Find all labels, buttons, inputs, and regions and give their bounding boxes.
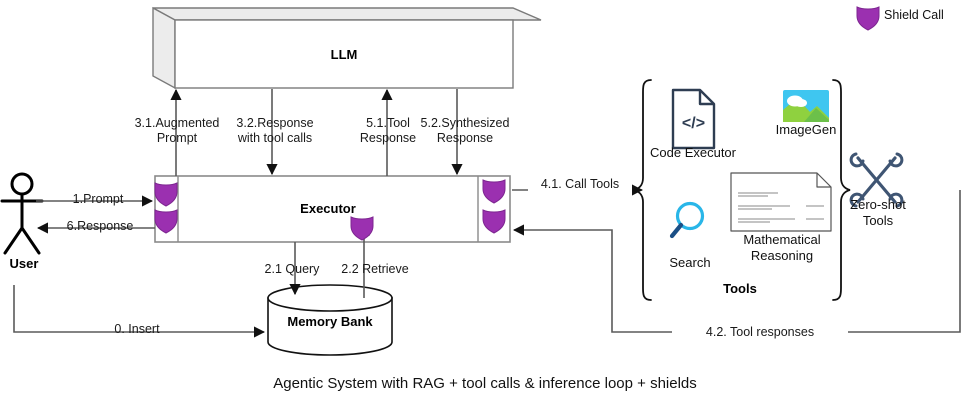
code-document-icon: </> (673, 90, 714, 148)
diagram-caption: Agentic System with RAG + tool calls & i… (0, 375, 970, 392)
edge-label-22-retrieve: 2.2 Retrieve (331, 262, 419, 277)
legend-label: Shield Call (884, 8, 944, 22)
edge-label-6-response: 6.Response (48, 219, 152, 234)
tool-caption-math-reasoning: Mathematical Reasoning (720, 232, 844, 264)
edge-label-32-response-tool-calls: 3.2.Response with tool calls (228, 116, 322, 146)
tool-caption-code-executor: Code Executor (645, 145, 741, 161)
edge-label-31-augmented-prompt: 3.1.Augmented Prompt (133, 116, 221, 146)
image-photo-icon (783, 90, 829, 122)
math-document-icon (731, 173, 831, 231)
svg-text:</>: </> (682, 115, 705, 132)
tool-caption-search: Search (652, 255, 728, 271)
edge-label-41-call-tools: 4.1. Call Tools (528, 177, 632, 192)
tool-caption-imagegen: ImageGen (760, 122, 852, 138)
edge-label-52-synthesized-response: 5.2.Synthesized Response (418, 116, 512, 146)
user-actor-icon (2, 174, 42, 253)
magnifier-icon (672, 204, 703, 237)
edge-label-1-prompt: 1.Prompt (48, 192, 148, 207)
edge-label-21-query: 2.1 Query (252, 262, 332, 277)
edge-label-51-tool-response: 5.1.Tool Response (348, 116, 428, 146)
user-label: User (0, 256, 48, 271)
diagram-canvas: </> (0, 0, 970, 411)
legend-shield-icon (857, 7, 879, 30)
tool-caption-zero-shot-tools: Zero-shot Tools (840, 197, 916, 229)
executor-label: Executor (178, 201, 478, 216)
edge-label-42-tool-responses: 4.2. Tool responses (672, 325, 848, 340)
tools-group-label: Tools (690, 281, 790, 296)
edge-label-0-insert: 0. Insert (82, 322, 192, 337)
llm-label: LLM (175, 47, 513, 62)
memory-bank-label: Memory Bank (268, 314, 392, 329)
